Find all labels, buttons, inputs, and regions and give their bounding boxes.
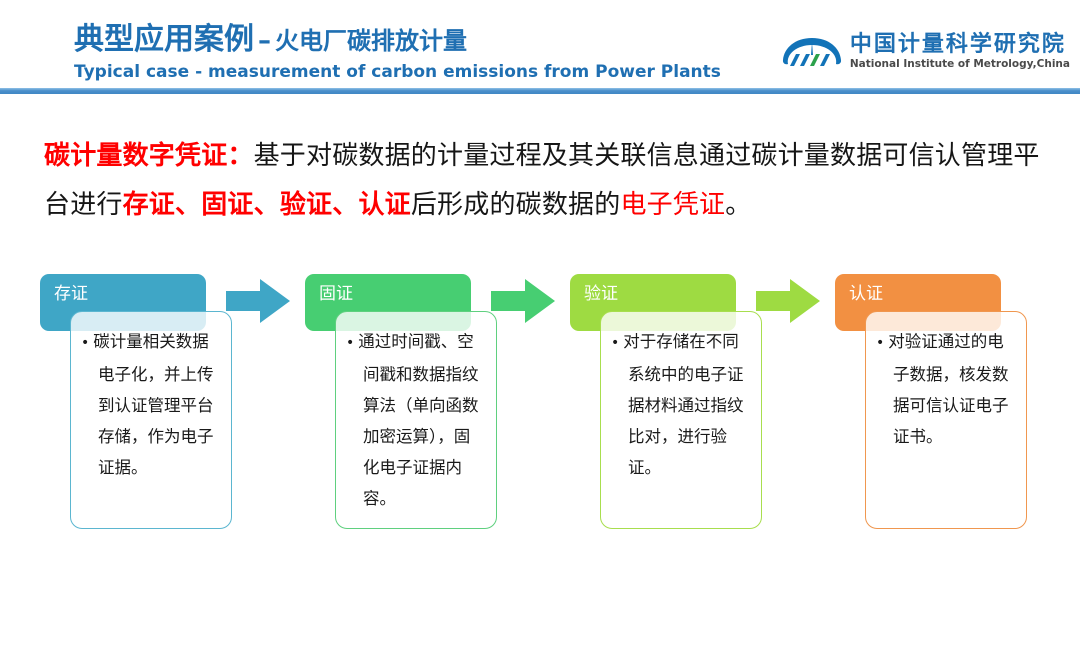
step-card-3: •对于存储在不同系统中的电子证据材料通过指纹比对，进行验证。 [600,311,762,529]
logo-text-block: 中国计量科学研究院 National Institute of Metrolog… [850,34,1070,70]
institute-logo: 中国计量科学研究院 National Institute of Metrolog… [781,34,1070,70]
step-label-1: 存证 [54,283,206,305]
bullet-icon: • [346,335,354,351]
step-label-4: 认证 [849,283,1001,305]
lead-keyword-4: 认证 [358,190,410,220]
lead-end: 。 [725,190,751,220]
lead-term: 碳计量数字凭证 [44,141,227,171]
page-title-main: 典型应用案例 [74,22,254,57]
step-body-1: •碳计量相关数据电子化，并上传到认证管理平台存储，作为电子证据。 [81,326,221,483]
header-divider [0,88,1080,94]
step-card-4: •对验证通过的电子数据，核发数据可信认证电子证书。 [865,311,1027,529]
step-body-2: •通过时间戳、空间戳和数据指纹算法（单向函数加密运算），固化电子证据内容。 [346,326,486,514]
step-label-2: 固证 [319,283,471,305]
step-body-text-2: 通过时间戳、空间戳和数据指纹算法（单向函数加密运算），固化电子证据内容。 [358,332,478,508]
process-step-2[interactable]: 固证 •通过时间戳、空间戳和数据指纹算法（单向函数加密运算），固化电子证据内容。 [305,258,537,548]
lead-separator-1: 、 [175,190,201,220]
step-body-4: •对验证通过的电子数据，核发数据可信认证电子证书。 [876,326,1016,452]
bullet-icon: • [876,335,884,351]
lead-keyword-5: 电子凭证 [620,190,725,220]
lead-separator-2: 、 [254,190,280,220]
right-arrow-icon-2 [491,277,557,325]
logo-english-name: National Institute of Metrology,China [850,59,1070,70]
process-step-4[interactable]: 认证 •对验证通过的电子数据，核发数据可信认证电子证书。 [835,258,1067,548]
lead-keyword-1: 存证 [123,190,175,220]
lead-keyword-2: 固证 [201,190,253,220]
lead-segment-2: 后形成的碳数据的 [411,190,621,220]
page-title-dash: – [254,26,275,56]
step-body-text-1: 碳计量相关数据电子化，并上传到认证管理平台存储，作为电子证据。 [93,332,213,477]
right-arrow-icon-3 [756,277,822,325]
page-subtitle: Typical case - measurement of carbon emi… [74,61,721,83]
process-step-3[interactable]: 验证 •对于存储在不同系统中的电子证据材料通过指纹比对，进行验证。 [570,258,802,548]
lead-paragraph: 碳计量数字凭证：基于对碳数据的计量过程及其关联信息通过碳计量数据可信认管理平台进… [44,132,1044,230]
lead-keyword-3: 验证 [280,190,332,220]
step-label-3: 验证 [584,283,736,305]
right-arrow-icon-1 [226,277,292,325]
bullet-icon: • [81,335,89,351]
step-card-1: •碳计量相关数据电子化，并上传到认证管理平台存储，作为电子证据。 [70,311,232,529]
nim-arc-emblem-icon [781,35,843,69]
logo-chinese-name: 中国计量科学研究院 [850,34,1070,56]
process-flow: 存证 •碳计量相关数据电子化，并上传到认证管理平台存储，作为电子证据。 固证 •… [0,258,1080,558]
lead-separator-3: 、 [332,190,358,220]
bullet-icon: • [611,335,619,351]
step-body-text-4: 对验证通过的电子数据，核发数据可信认证电子证书。 [888,332,1008,446]
process-step-1[interactable]: 存证 •碳计量相关数据电子化，并上传到认证管理平台存储，作为电子证据。 [40,258,272,548]
step-card-2: •通过时间戳、空间戳和数据指纹算法（单向函数加密运算），固化电子证据内容。 [335,311,497,529]
step-body-text-3: 对于存储在不同系统中的电子证据材料通过指纹比对，进行验证。 [623,332,743,477]
slide-header: 典型应用案例–火电厂碳排放计量 Typical case - measureme… [0,0,1080,94]
page-title-sub: 火电厂碳排放计量 [275,27,467,55]
page-title: 典型应用案例–火电厂碳排放计量 [74,22,721,59]
lead-colon: ： [227,141,253,171]
step-body-3: •对于存储在不同系统中的电子证据材料通过指纹比对，进行验证。 [611,326,751,483]
header-title-block: 典型应用案例–火电厂碳排放计量 Typical case - measureme… [74,22,721,83]
